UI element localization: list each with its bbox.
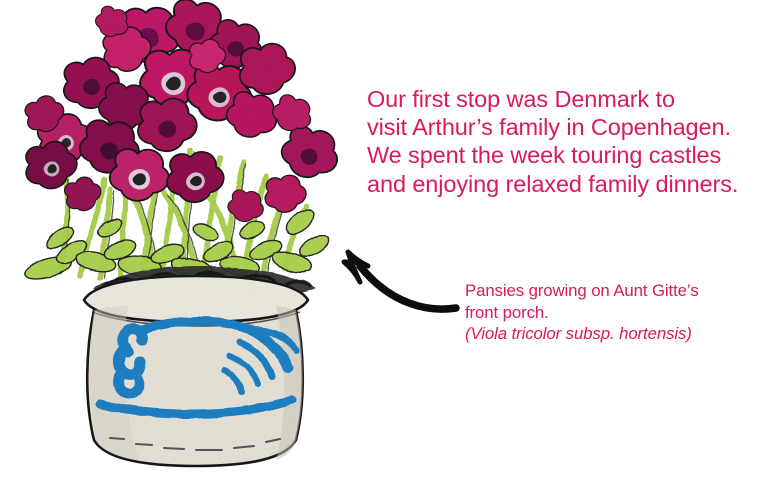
curved-pointer-arrow	[330, 240, 470, 330]
travel-note-text: Our first stop was Denmark to visit Arth…	[367, 85, 759, 198]
caption-line-1: Pansies growing on Aunt Gitte’s	[465, 280, 764, 302]
photo-caption: Pansies growing on Aunt Gitte’s front po…	[465, 280, 764, 345]
caption-latin-name: (Viola tricolor subsp. hortensis)	[465, 323, 764, 345]
illustration-canvas: Our first stop was Denmark to visit Arth…	[0, 0, 764, 477]
pansy-blossoms	[20, 0, 344, 225]
flower-pot	[84, 276, 308, 466]
caption-line-2: front porch.	[465, 302, 764, 324]
pansies-in-pot-illustration	[0, 0, 360, 477]
